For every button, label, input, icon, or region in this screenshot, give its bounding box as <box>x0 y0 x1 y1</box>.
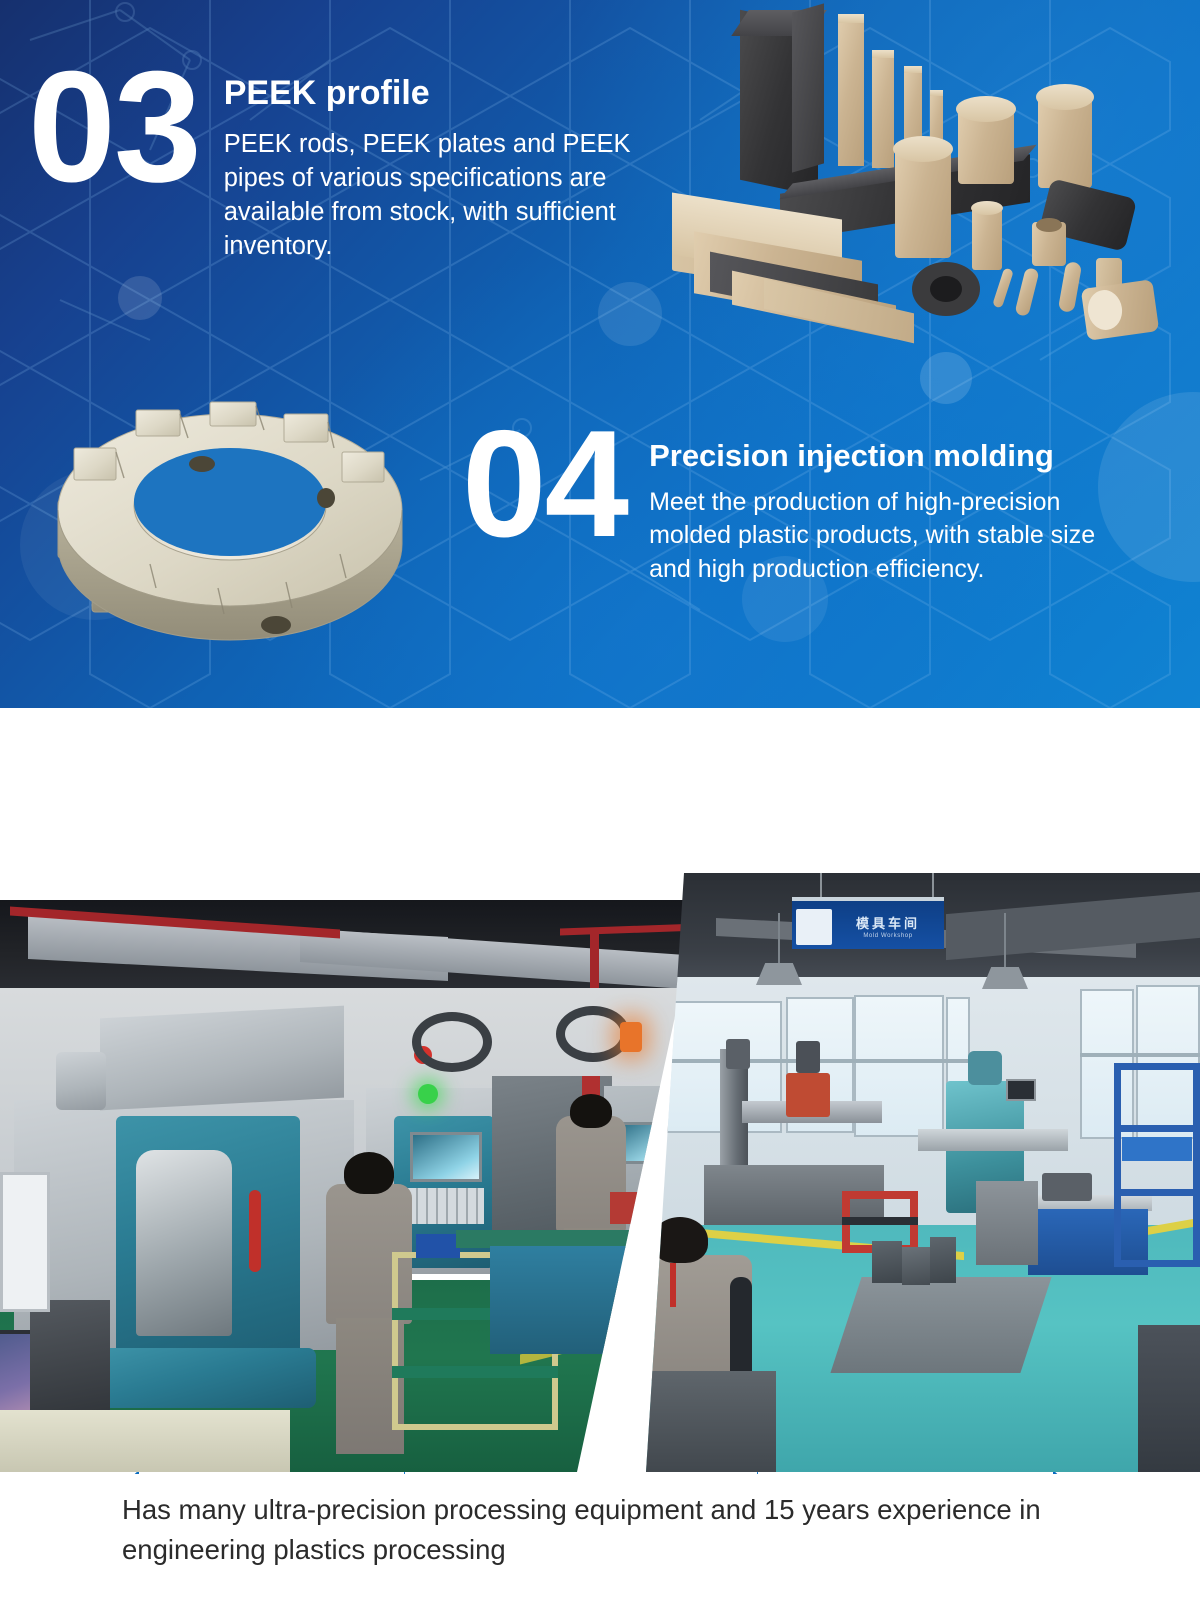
black-block-side <box>792 3 824 172</box>
sign-hanger-wire <box>932 873 934 899</box>
desk-front <box>646 1371 776 1472</box>
cnc-machine-duct <box>56 1052 106 1110</box>
blue-storage-rack <box>1114 1063 1200 1267</box>
mold-workshop-sign: 模具车间 Mold Workshop <box>792 897 944 949</box>
milling-monitor <box>1006 1079 1036 1101</box>
cnc-machining-workshop-photo <box>0 900 700 1472</box>
rack-shelf <box>1114 1125 1200 1132</box>
cnc-machine-head <box>100 1006 344 1111</box>
cnc-machine-base <box>96 1348 316 1408</box>
mold-workshop-photo: 模具车间 Mold Workshop <box>646 873 1200 1472</box>
cylinder-top <box>956 96 1016 122</box>
mold-block <box>872 1241 902 1283</box>
rod-cap <box>838 14 864 23</box>
feature-block-04: 04 Precision injection molding Meet the … <box>462 418 1129 586</box>
rod-cap <box>904 66 922 73</box>
mold-block <box>902 1247 930 1285</box>
black-ring-bore <box>930 276 962 302</box>
sign-logo-icon <box>796 909 832 945</box>
peek-cylinder-rod <box>972 208 1002 270</box>
bench-vise <box>1042 1173 1092 1201</box>
worker-lanyard <box>670 1263 676 1307</box>
seated-worker-hair <box>652 1217 708 1263</box>
decorative-bubble <box>598 282 662 346</box>
pendant-lamp-cord <box>1004 913 1006 969</box>
peek-pin <box>992 267 1014 308</box>
feature-text-03: PEEK profile PEEK rods, PEEK plates and … <box>224 58 654 264</box>
peek-pin <box>1014 267 1039 317</box>
decorative-bubble <box>118 276 162 320</box>
cylinder-top <box>971 201 1003 215</box>
cylinder-top <box>1036 84 1094 110</box>
desk-pc-tower <box>30 1300 110 1412</box>
cnc-keypad <box>408 1188 484 1224</box>
door-handle <box>249 1190 261 1272</box>
workshop-photo-collage: 模具车间 Mold Workshop <box>0 868 1200 1472</box>
rack-blue-bins <box>1122 1137 1192 1161</box>
feature-number-04: 04 <box>462 418 627 552</box>
mold-block <box>930 1237 956 1283</box>
radial-drill-head <box>786 1073 830 1117</box>
trolley-shelf <box>392 1366 558 1378</box>
milling-machine-motor <box>968 1051 1002 1085</box>
red-cart-shelf <box>842 1217 918 1225</box>
worker-hair <box>344 1152 394 1194</box>
cnc-machine-window <box>136 1150 232 1336</box>
drill-motor <box>726 1039 750 1069</box>
peek-pin <box>1058 261 1082 313</box>
feature-description-04: Meet the production of high-precision mo… <box>649 486 1129 586</box>
desk-surface <box>0 1410 290 1472</box>
sign-text-chinese: 模具车间 <box>836 913 940 932</box>
rod-cap <box>872 50 894 58</box>
caption-section: Has many ultra-precision processing equi… <box>0 1474 1200 1612</box>
our-strengths-banner: Our strengths <box>0 708 1200 868</box>
trolley-blue-bin <box>416 1234 460 1258</box>
peek-profile-products-image <box>680 0 1200 346</box>
sign-hanger-wire <box>820 873 822 899</box>
peek-cylinder-rod <box>895 148 951 258</box>
tool-changer-disc <box>556 1006 630 1062</box>
peek-square-rod <box>838 16 864 166</box>
status-light-green <box>418 1084 438 1104</box>
sign-text-english: Mold Workshop <box>836 933 940 939</box>
peek-molded-ring-image <box>40 382 430 667</box>
steel-plate-on-floor <box>830 1277 1051 1373</box>
pendant-lamp-cord <box>778 913 780 965</box>
feature-text-04: Precision injection molding Meet the pro… <box>649 418 1129 586</box>
gray-cabinet <box>976 1181 1038 1265</box>
window-mullion <box>1080 1053 1200 1057</box>
cnc-control-screen <box>410 1132 482 1182</box>
feature-block-03: 03 PEEK profile PEEK rods, PEEK plates a… <box>28 58 654 264</box>
feature-title-04: Precision injection molding <box>649 438 1129 474</box>
milling-machine-table <box>918 1129 1068 1151</box>
hero-panel: 03 PEEK profile PEEK rods, PEEK plates a… <box>0 0 1200 708</box>
cabinet-right-edge <box>1138 1325 1200 1472</box>
tool-changer-disc <box>412 1012 492 1072</box>
feature-number-03: 03 <box>28 58 200 197</box>
worker-hair-2 <box>570 1094 612 1128</box>
rod-cap <box>930 90 943 96</box>
page-root: 03 PEEK profile PEEK rods, PEEK plates a… <box>0 0 1200 1612</box>
feature-title-03: PEEK profile <box>224 74 654 113</box>
caption-text: Has many ultra-precision processing equi… <box>122 1490 1102 1570</box>
workbench-cabinet <box>490 1246 636 1354</box>
peek-square-rod <box>872 52 894 168</box>
peek-tube-bore <box>1036 218 1062 232</box>
cylinder-top <box>893 136 953 162</box>
drill-motor <box>796 1041 820 1073</box>
orange-lamp <box>620 1022 642 1052</box>
decorative-bubble <box>920 352 972 404</box>
rack-shelf <box>1114 1189 1200 1196</box>
whiteboard <box>0 1172 50 1312</box>
feature-description-03: PEEK rods, PEEK plates and PEEK pipes of… <box>224 127 654 264</box>
